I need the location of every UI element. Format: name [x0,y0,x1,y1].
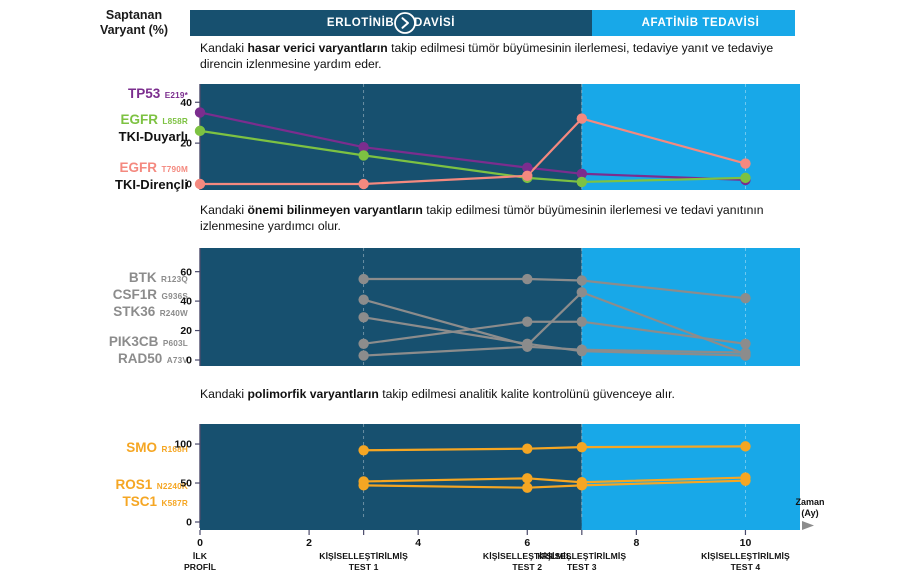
data-point [358,179,368,189]
data-point [195,126,205,136]
treatment-segment-erlotinib: ERLOTİNİB TEDAVİSİ [190,10,592,36]
chart-panel-3: 050100 [160,424,820,528]
data-point [358,445,368,455]
legend-gene-ros1: ROS1 [116,477,153,492]
x-tick-label-line1: KİŞİSELLEŞTİRİLMİŞ [527,551,637,562]
y-axis-title-line2: Varyant (%) [78,23,190,38]
data-point [577,177,587,187]
data-point [522,482,532,492]
x-tick-label: KİŞİSELLEŞTİRİLMİŞTEST 1 [309,551,419,573]
legend-gene-csf1r: CSF1R [113,287,157,302]
x-tick-label: KİŞİSELLEŞTİRİLMİŞTEST 4 [690,551,800,573]
caption-3-pre: Kandaki [200,387,247,401]
data-point [577,480,587,490]
x-tick-label-line2: PROFİL [145,562,255,573]
data-point [577,275,587,285]
x-tick-label-line2: TEST 4 [690,562,800,573]
caption-1-pre: Kandaki [200,41,247,55]
y-tick-label: 20 [180,138,192,150]
y-tick-label: 50 [180,478,192,490]
x-axis-title-line2: (Ay) [780,508,840,519]
chart-panel-2: 0204060 [160,248,820,366]
treatment-segment-afatinib: AFATİNİB TEDAVİSİ [592,10,795,36]
y-tick-label: 20 [180,325,192,337]
x-tick-number-6: 6 [507,537,547,549]
y-axis-title-line1: Saptanan [78,8,190,23]
data-point [522,342,532,352]
legend-gene-tsc1: TSC1 [123,494,158,509]
y-tick-label: 100 [174,439,192,451]
y-axis-title: Saptanan Varyant (%) [78,8,190,38]
treatment-timeline-bar: ERLOTİNİB TEDAVİSİ AFATİNİB TEDAVİSİ [190,10,795,36]
caption-3-post: takip edilmesi analitik kalite kontrolün… [379,387,675,401]
caption-2-bold: önemi bilinmeyen varyantların [247,203,422,217]
data-point [358,350,368,360]
data-point [358,274,368,284]
legend-gene-stk36: STK36 [113,304,155,319]
legend-gene-egfr-l858r: EGFR [120,112,158,127]
data-point [358,294,368,304]
x-tick-number-8: 8 [616,537,656,549]
data-point [577,287,587,297]
data-point [577,344,587,354]
x-tick-label: KİŞİSELLEŞTİRİLMİŞTEST 3 [527,551,637,573]
x-axis [160,520,860,538]
data-point [577,113,587,123]
y-tick-label: 0 [186,179,192,191]
data-point [195,179,205,189]
data-point [740,173,750,183]
x-axis-title-line1: Zaman [780,497,840,508]
x-tick-number-2: 2 [289,537,329,549]
data-point [740,158,750,168]
infographic-root: Saptanan Varyant (%) ERLOTİNİB TEDAVİSİ … [0,0,920,579]
data-point [522,171,532,181]
legend-gene-smo: SMO [126,440,157,455]
legend-gene-pik3cb: PIK3CB [109,334,159,349]
data-point [358,150,368,160]
x-tick-label-line2: TEST 1 [309,562,419,573]
data-point [358,480,368,490]
data-point [522,274,532,284]
data-point [522,473,532,483]
caption-2-pre: Kandaki [200,203,247,217]
x-tick-label-line2: TEST 3 [527,562,637,573]
data-point [740,475,750,485]
x-tick-number-0: 0 [180,537,220,549]
legend-gene-tp53: TP53 [128,86,160,101]
caption-panel-2: Kandaki önemi bilinmeyen varyantların ta… [200,202,800,234]
y-tick-label: 40 [180,296,192,308]
x-tick-label-line1: KİŞİSELLEŞTİRİLMİŞ [690,551,800,562]
chart-panel-1: 02040 [160,84,820,190]
data-point [740,441,750,451]
circle-arrow-right-icon [392,10,418,36]
data-point [577,317,587,327]
legend-gene-btk: BTK [129,270,157,285]
legend-gene-egfr-t790m: EGFR [120,160,158,175]
y-tick-label: 60 [180,266,192,278]
data-point [195,107,205,117]
data-point [522,444,532,454]
x-tick-label-line1: KİŞİSELLEŞTİRİLMİŞ [309,551,419,562]
panel-bg-afatinib [582,424,800,528]
x-tick-number-4: 4 [398,537,438,549]
caption-1-bold: hasar verici varyantların [247,41,387,55]
caption-panel-1: Kandaki hasar verici varyantların takip … [200,40,800,72]
x-tick-label: İLKPROFİL [145,551,255,573]
x-axis-title: Zaman (Ay) [780,497,840,519]
legend-gene-rad50: RAD50 [118,351,162,366]
data-point [740,293,750,303]
panel-bg-afatinib [582,248,800,366]
y-tick-label: 40 [180,97,192,109]
data-point [740,347,750,357]
data-point [577,442,587,452]
data-point [522,317,532,327]
x-tick-label-line1: İLK [145,551,255,562]
y-tick-label: 0 [186,355,192,367]
data-point [358,339,368,349]
caption-panel-3: Kandaki polimorfik varyantların takip ed… [200,386,800,402]
data-point [358,312,368,322]
x-tick-number-10: 10 [725,537,765,549]
caption-3-bold: polimorfik varyantların [247,387,378,401]
